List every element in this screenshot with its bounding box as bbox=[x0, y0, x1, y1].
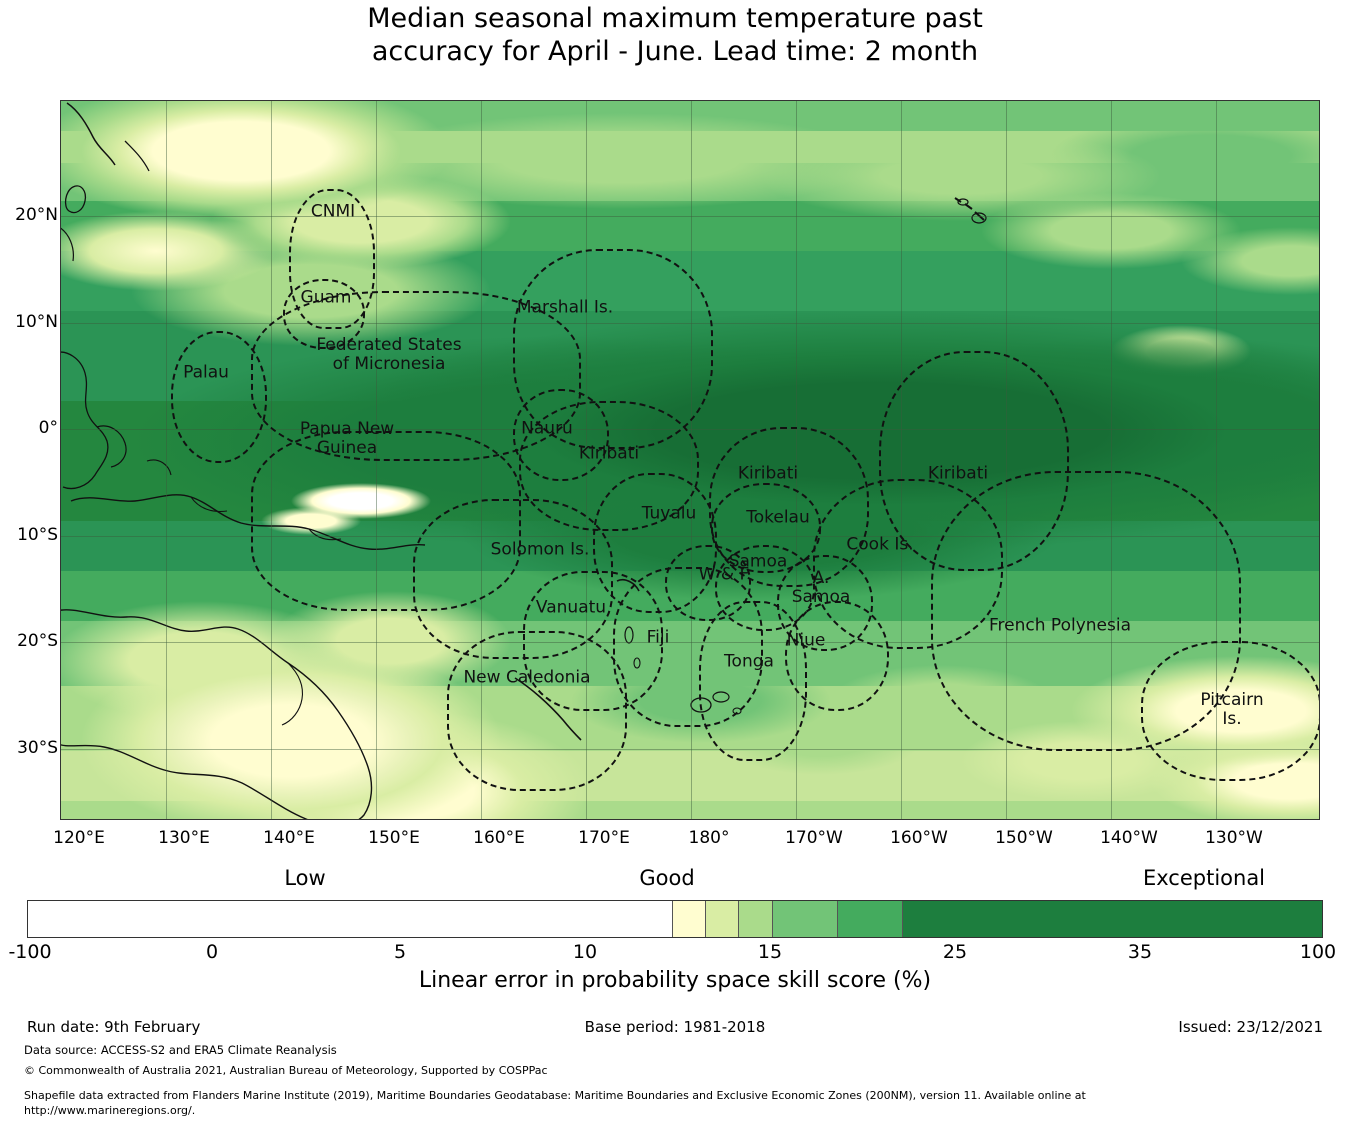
eez-boundary-newcaledonia bbox=[447, 631, 627, 791]
colorbar-segment bbox=[673, 901, 706, 937]
x-axis-tick: 170°E bbox=[544, 828, 664, 848]
colorbar-segment bbox=[28, 901, 673, 937]
colorbar-segment bbox=[903, 901, 1322, 937]
map-canvas: CNMIGuamMarshall Is.PalauFederated State… bbox=[60, 100, 1320, 820]
x-axis-tick: 130°W bbox=[1174, 828, 1294, 848]
x-axis-tick: 170°W bbox=[754, 828, 874, 848]
colorbar-segment bbox=[773, 901, 838, 937]
colorbar-band-label-good: Good bbox=[639, 866, 694, 890]
colorbar bbox=[27, 900, 1323, 938]
colorbar-tick: 35 bbox=[1128, 941, 1152, 963]
footer-issued: Issued: 23/12/2021 bbox=[1178, 1018, 1323, 1036]
x-axis-tick: 140°W bbox=[1069, 828, 1189, 848]
colorbar-band-label-exceptional: Exceptional bbox=[1143, 866, 1265, 890]
colorbar-axis-label: Linear error in probability space skill … bbox=[0, 968, 1350, 993]
coastline-northwest-arc bbox=[60, 100, 313, 327]
x-axis-tick: 150°W bbox=[964, 828, 1084, 848]
coastline-hawaii bbox=[891, 176, 991, 236]
eez-boundary-pitcairn bbox=[1141, 641, 1320, 781]
y-axis-tick: 20°N bbox=[0, 205, 58, 225]
y-axis-tick: 10°N bbox=[0, 312, 58, 332]
colorbar-segment bbox=[739, 901, 772, 937]
x-axis-tick: 160°E bbox=[439, 828, 559, 848]
x-axis-tick: 140°E bbox=[229, 828, 349, 848]
colorbar-tick: 15 bbox=[758, 941, 782, 963]
x-axis-tick: 160°W bbox=[859, 828, 979, 848]
x-axis-tick: 150°E bbox=[334, 828, 454, 848]
page-title: Median seasonal maximum temperature past… bbox=[0, 2, 1350, 68]
x-axis-tick: 180° bbox=[649, 828, 769, 848]
y-axis-tick: 0° bbox=[0, 418, 58, 438]
grid-line-horizontal bbox=[61, 216, 1319, 217]
colorbar-tick: 10 bbox=[573, 941, 597, 963]
y-axis-tick: 30°S bbox=[0, 738, 58, 758]
colorbar-tick: 0 bbox=[206, 941, 218, 963]
colorbar-segment bbox=[706, 901, 739, 937]
x-axis-tick: 130°E bbox=[124, 828, 244, 848]
grid-line-vertical bbox=[166, 101, 167, 819]
colorbar-gradient bbox=[27, 900, 1323, 938]
colorbar-segment bbox=[838, 901, 903, 937]
footer-copyright: © Commonwealth of Australia 2021, Austra… bbox=[24, 1063, 548, 1079]
colorbar-tick: 100 bbox=[1300, 941, 1336, 963]
y-axis-tick: 20°S bbox=[0, 631, 58, 651]
colorbar-tick: -100 bbox=[8, 941, 51, 963]
colorbar-band-label-low: Low bbox=[284, 866, 325, 890]
colorbar-tick: 25 bbox=[943, 941, 967, 963]
colorbar-tick: 5 bbox=[394, 941, 406, 963]
footer-shapefile-note: Shapefile data extracted from Flanders M… bbox=[24, 1088, 1324, 1118]
y-axis-tick: 10°S bbox=[0, 525, 58, 545]
footer-base-period: Base period: 1981-2018 bbox=[0, 1018, 1350, 1036]
x-axis-tick: 120°E bbox=[19, 828, 139, 848]
eez-boundary-niue bbox=[785, 601, 889, 711]
footer-data-source: Data source: ACCESS-S2 and ERA5 Climate … bbox=[24, 1042, 337, 1058]
